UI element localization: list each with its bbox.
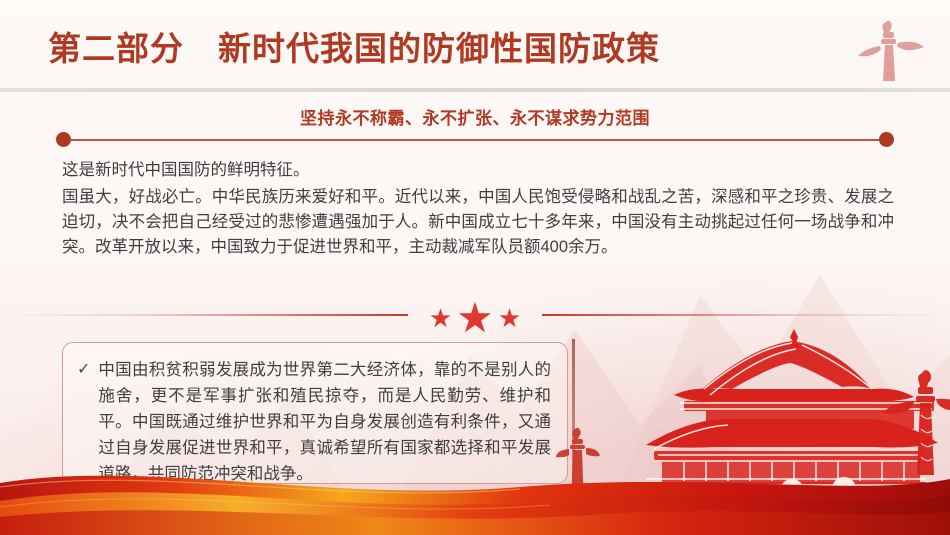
- header-divider-rule: [0, 88, 950, 92]
- body-paragraph-1: 这是新时代中国国防的鲜明特征。: [62, 158, 894, 183]
- red-silk-ribbon-illustration: [0, 457, 950, 535]
- page-title: 第二部分 新时代我国的防御性国防政策: [48, 22, 660, 70]
- section-subtitle: 坚持永不称霸、永不扩张、永不谋求势力范围: [0, 104, 950, 129]
- bullet-dot-icon-right: [879, 132, 894, 147]
- slide-canvas: 第二部分 新时代我国的防御性国防政策 坚持永不称霸、永不扩张、永不谋求势力范围 …: [0, 0, 950, 535]
- star-icon-left: ★: [429, 305, 452, 331]
- check-icon: ✓: [77, 357, 90, 383]
- divider-line: [70, 139, 880, 141]
- star-divider-line-left: [0, 314, 408, 316]
- star-group: ★ ★ ★: [429, 296, 521, 339]
- star-divider-line-right: [542, 314, 950, 316]
- subtitle-divider: [56, 132, 894, 148]
- huabiao-column-icon: [852, 18, 928, 84]
- bullet-dot-icon-left: [56, 132, 71, 147]
- star-icon-center: ★: [456, 297, 494, 339]
- body-paragraph-2: 国虽大，好战必亡。中华民族历来爱好和平。近代以来，中国人民饱受侵略和战乱之苦，深…: [62, 185, 894, 260]
- star-icon-right: ★: [498, 305, 521, 331]
- body-text-block: 这是新时代中国国防的鲜明特征。 国虽大，好战必亡。中华民族历来爱好和平。近代以来…: [62, 158, 894, 262]
